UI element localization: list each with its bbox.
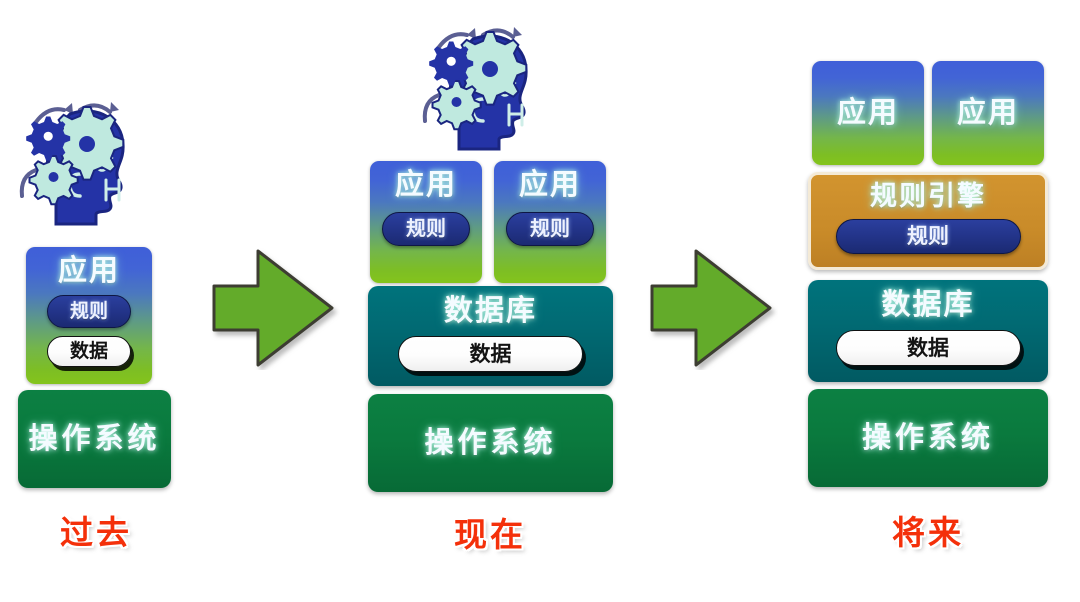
operating-system-title: 操作系统 xyxy=(424,429,556,458)
head-gears-icon xyxy=(417,3,545,151)
rule-pill[interactable]: 规则 xyxy=(836,219,1021,254)
operating-system-title: 操作系统 xyxy=(862,424,994,453)
rule-pill[interactable]: 规则 xyxy=(506,212,594,246)
data-pill[interactable]: 数据 xyxy=(398,336,583,372)
app-box-title: 应用 xyxy=(519,171,581,200)
database-box[interactable]: 数据库 数据 xyxy=(368,286,613,386)
data-pill[interactable]: 数据 xyxy=(47,336,131,367)
data-pill[interactable]: 数据 xyxy=(836,330,1021,366)
app-box[interactable]: 应用 xyxy=(812,61,924,165)
rule-engine-title: 规则引擎 xyxy=(870,183,986,210)
operating-system-box[interactable]: 操作系统 xyxy=(18,390,171,488)
app-box[interactable]: 应用 规则 xyxy=(494,161,606,283)
era-label-future: 将来 xyxy=(856,506,1000,554)
rule-engine-box[interactable]: 规则引擎 规则 xyxy=(808,172,1048,270)
app-box[interactable]: 应用 规则 数据 xyxy=(26,247,152,384)
head-gears-icon xyxy=(14,78,142,226)
database-title: 数据库 xyxy=(444,297,537,326)
app-box-title: 应用 xyxy=(957,99,1019,128)
rule-pill[interactable]: 规则 xyxy=(47,295,131,328)
operating-system-title: 操作系统 xyxy=(28,425,160,454)
app-box-title: 应用 xyxy=(837,99,899,128)
era-label-past: 过去 xyxy=(24,506,168,554)
diagram-canvas: 应用 规则 数据 操作系统 过去 xyxy=(0,0,1080,602)
arrow-right-icon xyxy=(648,246,778,370)
database-box[interactable]: 数据库 数据 xyxy=(808,280,1048,382)
era-label-present: 现在 xyxy=(418,508,562,556)
app-box[interactable]: 应用 规则 xyxy=(370,161,482,283)
app-box[interactable]: 应用 xyxy=(932,61,1044,165)
app-box-title: 应用 xyxy=(58,257,120,286)
operating-system-box[interactable]: 操作系统 xyxy=(368,394,613,492)
arrow-right-icon xyxy=(210,246,340,370)
operating-system-box[interactable]: 操作系统 xyxy=(808,389,1048,487)
database-title: 数据库 xyxy=(881,291,974,320)
rule-pill[interactable]: 规则 xyxy=(382,212,470,246)
app-box-title: 应用 xyxy=(395,171,457,200)
